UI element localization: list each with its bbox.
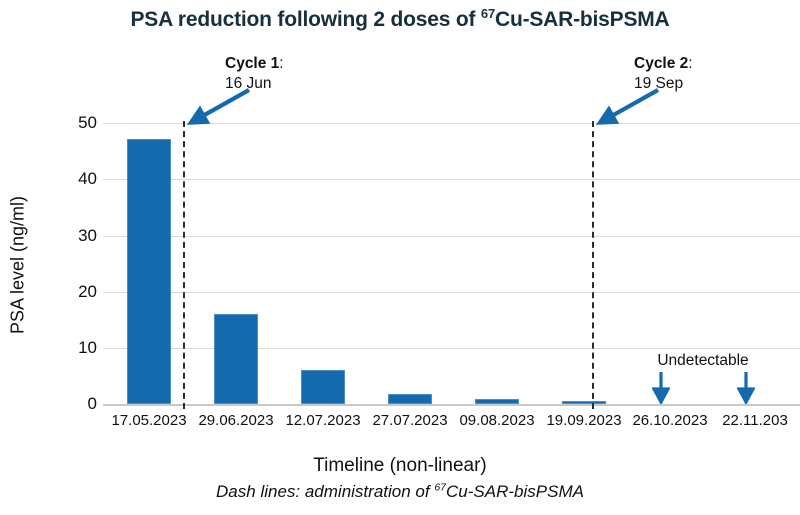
x-tick-1: 29.06.2023	[198, 412, 273, 429]
x-tick-6: 26.10.2023	[632, 412, 707, 429]
subcaption-suffix: Cu-SAR-bisPSMA	[446, 482, 584, 501]
gridline-10	[103, 348, 800, 349]
page-title: PSA reduction following 2 doses of 67Cu-…	[0, 8, 800, 32]
cycle-1-arrow-icon	[183, 86, 255, 128]
x-tick-7: 22.11.203	[722, 412, 788, 429]
x-tick-4: 09.08.2023	[459, 412, 534, 429]
title-suffix: Cu-SAR-bisPSMA	[495, 8, 670, 31]
bar-29-06-2023[interactable]	[214, 314, 258, 404]
y-tick-30: 30	[51, 226, 97, 246]
cycle-1-heading: Cycle 1	[225, 55, 279, 72]
y-tick-10: 10	[51, 338, 97, 358]
subcaption-superscript: 67	[434, 481, 446, 493]
x-tick-3: 27.07.2023	[372, 412, 447, 429]
x-axis-subcaption: Dash lines: administration of 67Cu-SAR-b…	[0, 482, 800, 502]
x-axis-line	[103, 404, 800, 406]
cycle-2-arrow-icon	[592, 86, 664, 128]
undetectable-arrow-icon-2	[737, 372, 755, 404]
cycle-2-heading: Cycle 2	[634, 55, 688, 72]
title-prefix: PSA reduction following 2 doses of	[130, 8, 480, 31]
y-axis-label: PSA level (ng/ml)	[8, 196, 29, 334]
dash-line-cycle-2	[592, 121, 594, 409]
x-tick-2: 12.07.2023	[285, 412, 360, 429]
gridline-40	[103, 179, 800, 180]
y-tick-0: 0	[51, 394, 97, 414]
y-tick-20: 20	[51, 282, 97, 302]
bar-12-07-2023[interactable]	[301, 370, 345, 404]
x-tick-0: 17.05.2023	[111, 412, 186, 429]
bar-17-05-2023[interactable]	[127, 139, 171, 404]
cycle-2-colon: :	[688, 55, 692, 72]
x-tick-5: 19.09.2023	[546, 412, 621, 429]
y-axis-label-container: PSA level (ng/ml)	[0, 120, 38, 410]
y-tick-40: 40	[51, 169, 97, 189]
bar-27-07-2023[interactable]	[388, 394, 432, 404]
title-superscript: 67	[481, 6, 495, 21]
chart-page: PSA reduction following 2 doses of 67Cu-…	[0, 0, 800, 515]
dash-line-cycle-1	[183, 121, 185, 409]
cycle-1-colon: :	[279, 55, 283, 72]
x-axis-label: Timeline (non-linear)	[0, 455, 800, 477]
gridline-30	[103, 236, 800, 237]
gridline-20	[103, 292, 800, 293]
undetectable-arrow-icon-1	[652, 372, 670, 404]
undetectable-label: Undetectable	[657, 352, 748, 370]
y-tick-50: 50	[51, 113, 97, 133]
subcaption-prefix: Dash lines: administration of	[216, 482, 434, 501]
